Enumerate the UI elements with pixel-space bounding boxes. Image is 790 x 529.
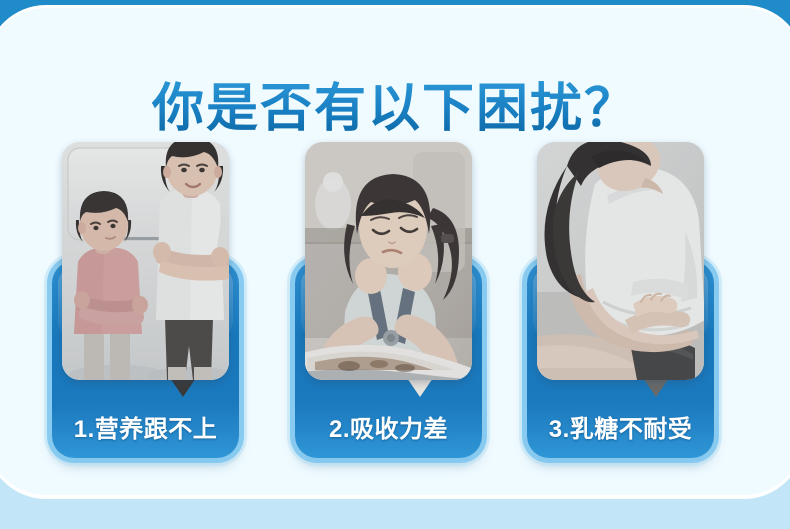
photo-woman-stomach-ache	[537, 142, 704, 380]
card-caption: 2.吸收力差	[295, 409, 482, 444]
problem-card[interactable]: 3.乳糖不耐受	[527, 142, 714, 458]
problem-card[interactable]: 2.吸收力差	[295, 142, 482, 458]
page-title: 你是否有以下困扰？	[0, 81, 790, 138]
card-caption: 3.乳糖不耐受	[527, 409, 714, 444]
photo-girl-no-appetite	[305, 142, 472, 380]
card-caption: 1.营养跟不上	[52, 409, 239, 444]
promo-poster: 你是否有以下困扰？ 1.营养跟不上	[0, 0, 790, 529]
problem-card[interactable]: 1.营养跟不上	[52, 142, 239, 458]
photo-children-height-comparison	[62, 142, 229, 380]
